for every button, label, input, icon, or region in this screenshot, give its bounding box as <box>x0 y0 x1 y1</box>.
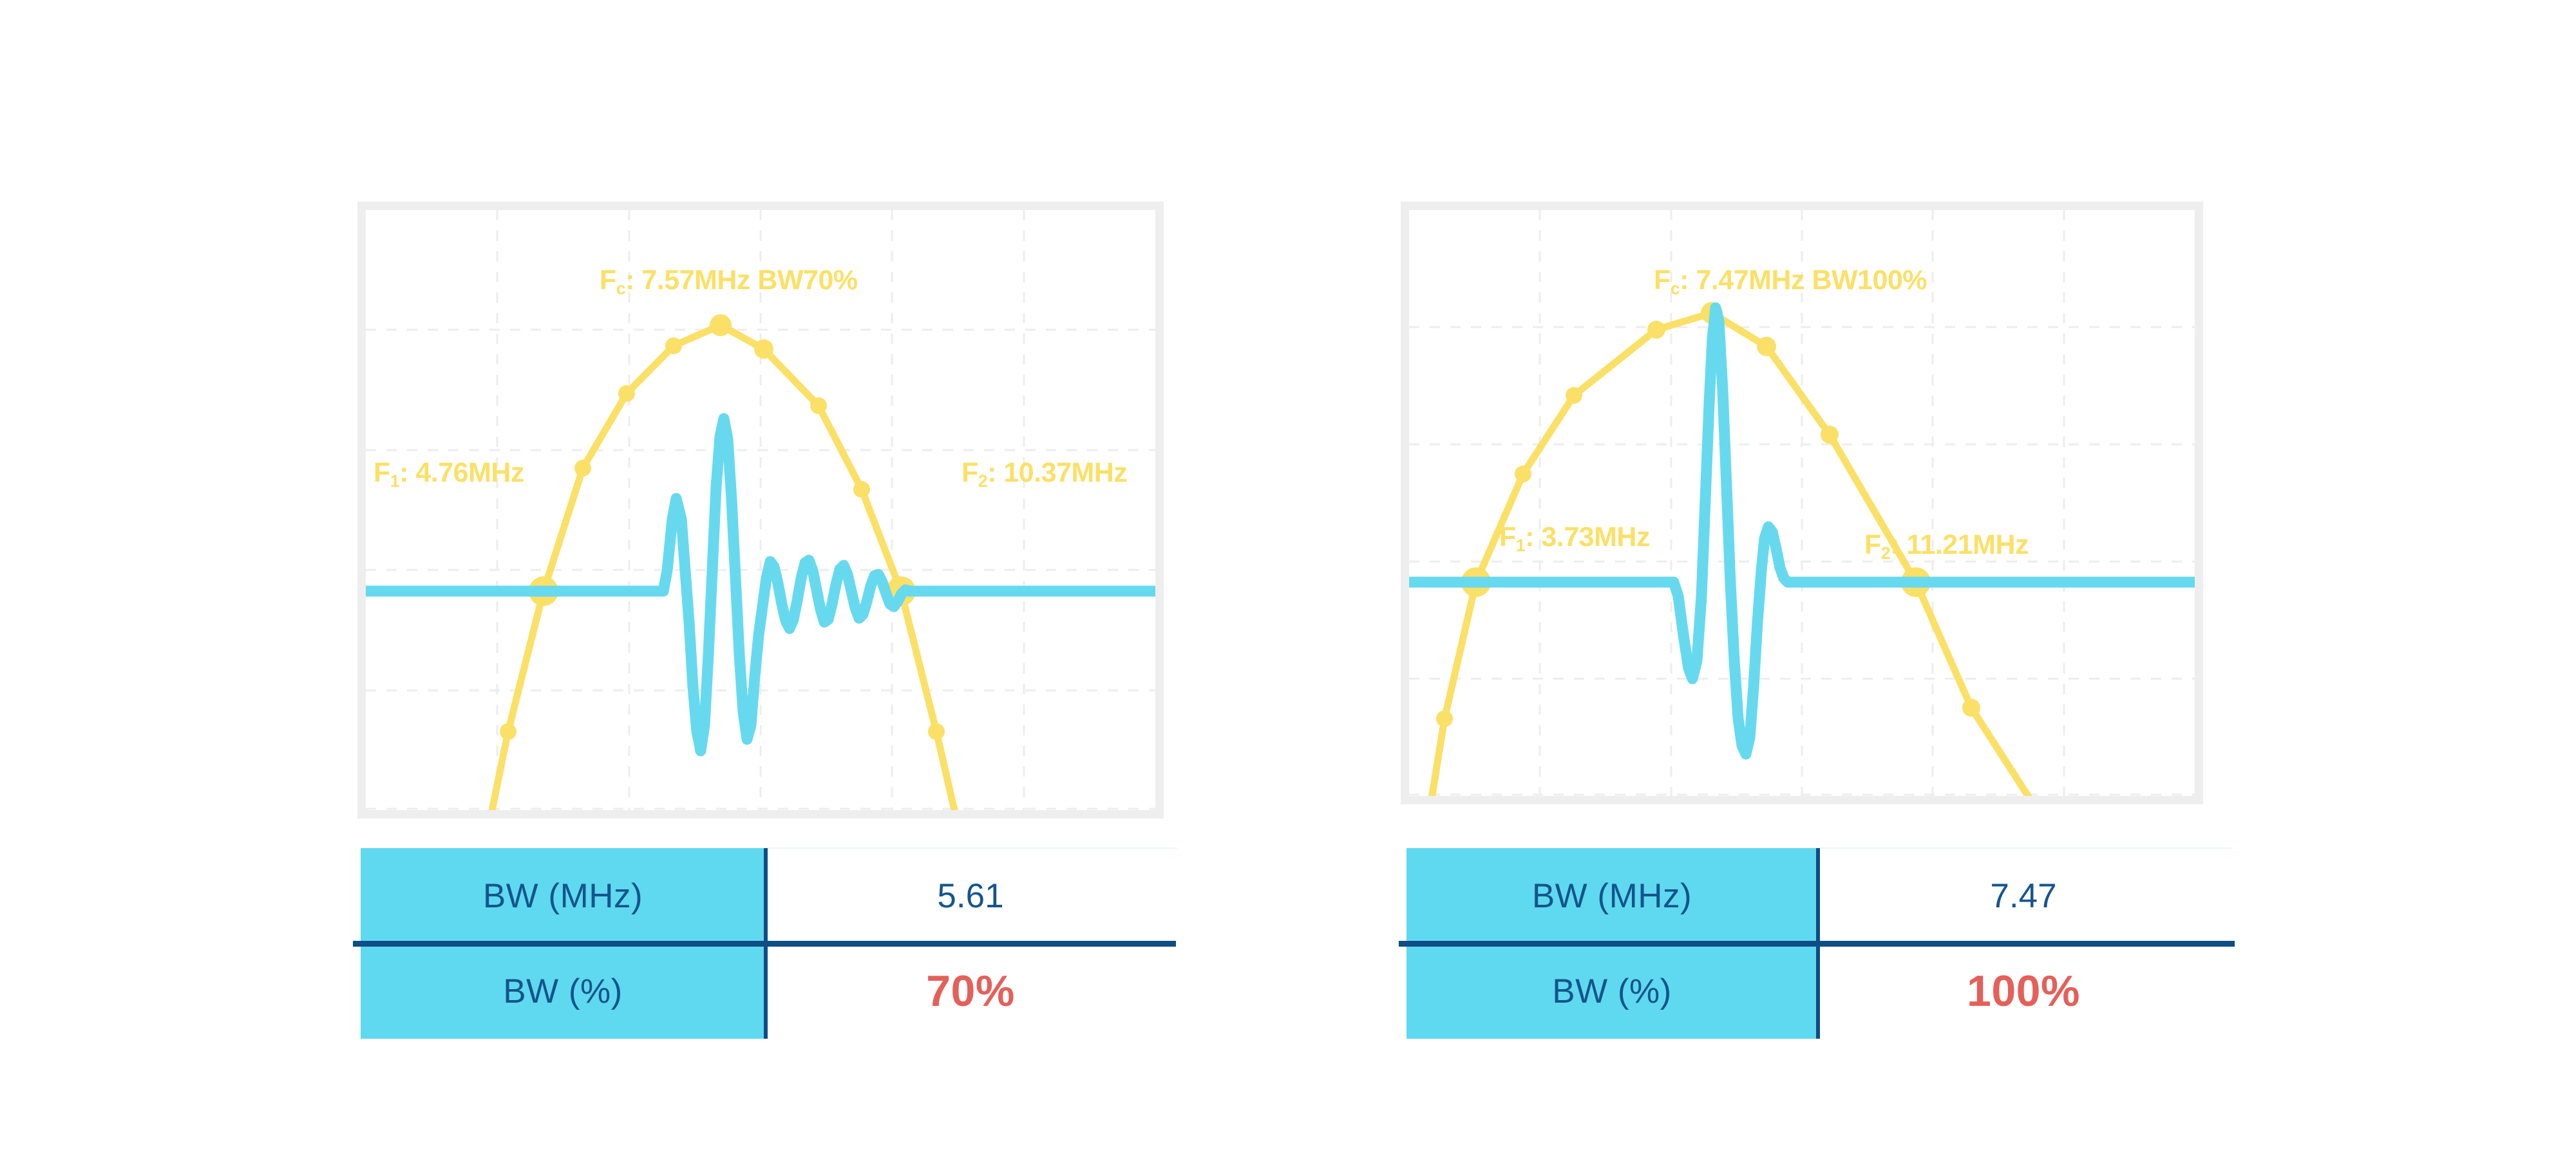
table-top-rule-right <box>1817 847 2233 849</box>
label-f1-prefix-right: F <box>1499 522 1516 553</box>
label-f1-right: F1: 3.73MHz <box>1499 522 1650 556</box>
bw-mhz-value-cell-right: 7.47 <box>1817 848 2230 943</box>
panel-right: Fc: 7.47MHz BW100% F1: 3.73MHz F2: 11.21… <box>0 0 2576 1154</box>
label-f2-text-right: : 11.21MHz <box>1890 529 2029 560</box>
label-f1-sub-right: 1 <box>1516 536 1525 555</box>
label-fc-prefix-right: F <box>1654 265 1671 296</box>
label-f1-text-right: : 3.73MHz <box>1525 522 1650 553</box>
bw-pct-value-right: 100% <box>1967 966 2080 1016</box>
table-row-divider-right <box>1399 941 2235 947</box>
label-f2-sub-right: 2 <box>1881 544 1890 563</box>
bw-mhz-value-right: 7.47 <box>1990 876 2056 916</box>
label-f2-prefix-right: F <box>1864 529 1881 560</box>
label-fc-right: Fc: 7.47MHz BW100% <box>1654 265 1927 299</box>
label-f2-right: F2: 11.21MHz <box>1864 529 2029 563</box>
label-fc-sub-right: c <box>1671 279 1680 298</box>
bw-mhz-label-right: BW (MHz) <box>1406 848 1817 943</box>
label-fc-text-right: : 7.47MHz BW100% <box>1680 265 1927 296</box>
bw-pct-value-cell-right: 100% <box>1817 943 2230 1039</box>
bw-pct-label-right: BW (%) <box>1406 943 1817 1039</box>
screenshot-root: Fc: 7.57MHz BW70% F1: 4.76MHz F2: 10.37M… <box>0 0 2576 1154</box>
